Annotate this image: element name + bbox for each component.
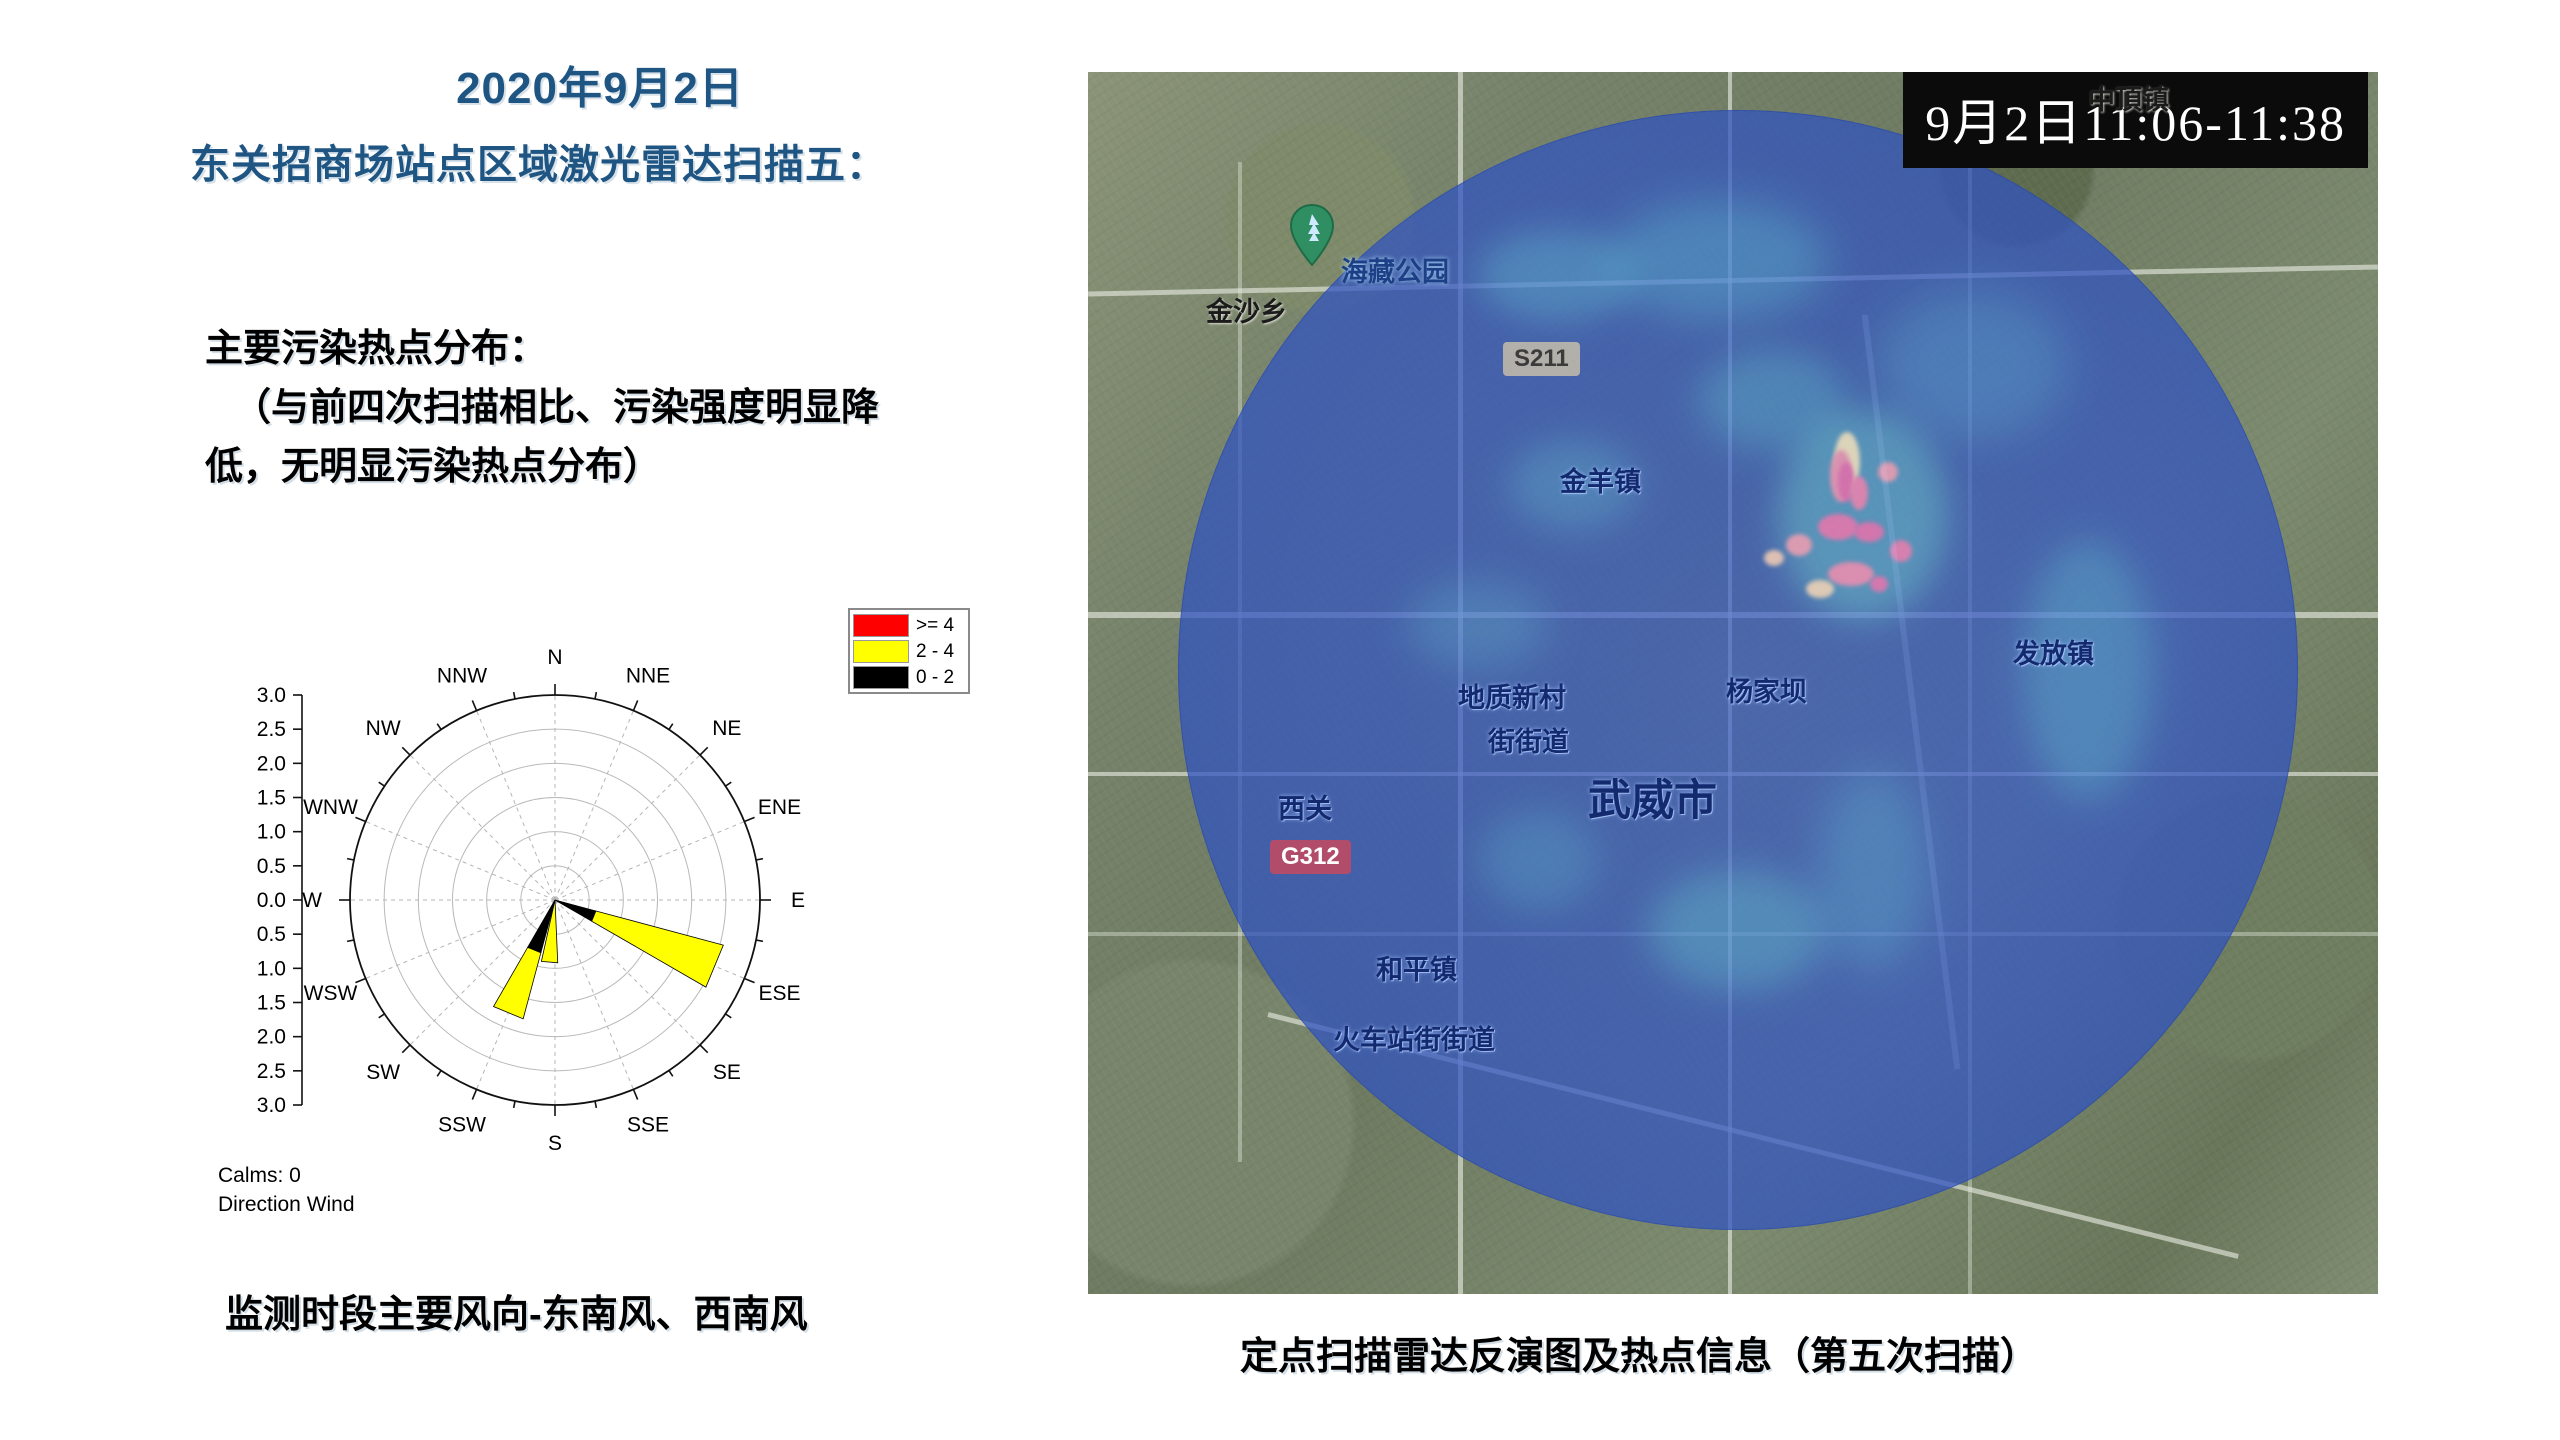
hotspot-diffuse (1648, 870, 1828, 990)
map-place-label: 武威市 (1588, 766, 1717, 828)
hotspot-core (1890, 540, 1912, 562)
svg-text:0.0: 0.0 (257, 889, 286, 912)
svg-text:S: S (548, 1132, 562, 1155)
svg-text:1.5: 1.5 (257, 992, 286, 1015)
svg-text:2.0: 2.0 (257, 752, 286, 775)
wind-rose-petals (494, 900, 724, 1019)
svg-text:1.0: 1.0 (257, 957, 286, 980)
hotspot-diffuse (1608, 200, 1828, 320)
svg-text:2.0: 2.0 (257, 1026, 286, 1049)
svg-text:2.5: 2.5 (257, 1060, 286, 1083)
legend-label-2to4: 2 - 4 (916, 641, 954, 663)
map-place-label: 和平镇 (1376, 948, 1457, 987)
svg-text:NNE: NNE (626, 664, 670, 687)
svg-text:ENE: ENE (758, 796, 801, 819)
map-place-label: 中頂镇 (2088, 78, 2169, 117)
hotspot-core (1764, 550, 1784, 566)
hotspot-core (1818, 514, 1858, 540)
svg-text:ESE: ESE (758, 982, 800, 1005)
svg-text:SW: SW (366, 1061, 400, 1084)
svg-text:3.0: 3.0 (257, 1094, 286, 1117)
wind-rose-legend: >= 4 2 - 4 0 - 2 (848, 608, 970, 694)
map-place-label: 西关 (1278, 787, 1332, 826)
hotspot-core (1786, 534, 1812, 556)
left-column: 2020年9月2日 东关招商场站点区域激光雷达扫描五： 主要污染热点分布： （与… (0, 0, 1080, 1440)
svg-text:N: N (547, 646, 562, 669)
svg-text:WSW: WSW (304, 982, 358, 1005)
svg-text:3.0: 3.0 (257, 684, 286, 707)
wind-rose-radial-axis: 3.02.52.01.51.00.50.00.51.01.52.02.53.0 (257, 684, 302, 1117)
legend-item-ge4: >= 4 (853, 613, 965, 638)
svg-text:1.0: 1.0 (257, 821, 286, 844)
svg-text:W: W (302, 889, 322, 912)
hotspot-diffuse (1408, 580, 1548, 670)
wind-rose-calms-label: Calms: 0 (218, 1164, 301, 1187)
findings-block: 主要污染热点分布： （与前四次扫描相比、污染强度明显降 低，无明显污染热点分布） (205, 320, 1005, 497)
hotspot-diffuse (1478, 810, 1598, 910)
map-place-label: 金羊镇 (1560, 460, 1641, 499)
legend-swatch-0to2 (853, 666, 909, 689)
map-place-label: 地质新村 (1458, 676, 1566, 715)
map-place-label: 金沙乡 (1206, 290, 1287, 329)
hotspot-core (1854, 522, 1884, 542)
svg-text:SE: SE (713, 1061, 741, 1084)
svg-text:1.5: 1.5 (257, 787, 286, 810)
svg-text:SSE: SSE (627, 1114, 669, 1137)
hotspot-diffuse (1878, 290, 2068, 440)
map-figure-caption: 定点扫描雷达反演图及热点信息（第五次扫描） (1240, 1325, 2038, 1380)
wind-rose-chart: 3.02.52.01.51.00.50.00.51.01.52.02.53.0 … (210, 600, 1010, 1240)
svg-text:NW: NW (366, 717, 401, 740)
map-place-label: 发放镇 (2013, 632, 2094, 671)
findings-line-1: （与前四次扫描相比、污染强度明显降 (205, 379, 1005, 438)
legend-label-0to2: 0 - 2 (916, 667, 954, 689)
hotspot-core (1850, 476, 1868, 510)
hotspot-halo (1778, 410, 1948, 620)
hotspot-core (1828, 562, 1874, 586)
road-shield: S211 (1503, 342, 1580, 376)
findings-heading: 主要污染热点分布： (205, 320, 1005, 379)
slide-main-title: 东关招商场站点区域激光雷达扫描五： (190, 132, 1050, 190)
hotspot-core (1806, 580, 1834, 598)
findings-line-2: 低，无明显污染热点分布） (205, 438, 1005, 497)
legend-item-2to4: 2 - 4 (853, 639, 965, 664)
map-place-label: 街街道 (1488, 720, 1569, 759)
map-place-label: 海藏公园 (1341, 250, 1449, 289)
svg-text:0.5: 0.5 (257, 855, 286, 878)
road-shield: G312 (1270, 840, 1351, 874)
wind-rose-svg: 3.02.52.01.51.00.50.00.51.01.52.02.53.0 … (210, 600, 1010, 1240)
legend-item-0to2: 0 - 2 (853, 665, 965, 690)
wind-rose-title: Direction Wind (218, 1193, 355, 1216)
legend-label-ge4: >= 4 (916, 615, 954, 637)
svg-text:WNW: WNW (303, 796, 358, 819)
wind-direction-caption: 监测时段主要风向-东南风、西南风 (225, 1283, 808, 1338)
svg-text:2.5: 2.5 (257, 718, 286, 741)
hotspot-core (1870, 576, 1888, 592)
svg-text:NNW: NNW (437, 664, 487, 687)
svg-text:NE: NE (712, 717, 741, 740)
hotspot-core (1878, 462, 1898, 482)
hotspot-diffuse (1818, 770, 1928, 970)
svg-text:E: E (791, 889, 805, 912)
map-place-label: 火车站街街道 (1333, 1018, 1495, 1057)
slide-date-title: 2020年9月2日 (300, 52, 900, 116)
svg-text:SSW: SSW (438, 1114, 486, 1137)
legend-swatch-ge4 (853, 614, 909, 637)
svg-text:0.5: 0.5 (257, 923, 286, 946)
park-pin-icon (1288, 204, 1336, 266)
radar-map-panel[interactable]: 9月2日11:06-11:38 金沙乡海藏公园S211中頂镇金羊镇发放镇杨家坝地… (1088, 72, 2378, 1294)
legend-swatch-2to4 (853, 640, 909, 663)
map-place-label: 杨家坝 (1726, 670, 1807, 709)
